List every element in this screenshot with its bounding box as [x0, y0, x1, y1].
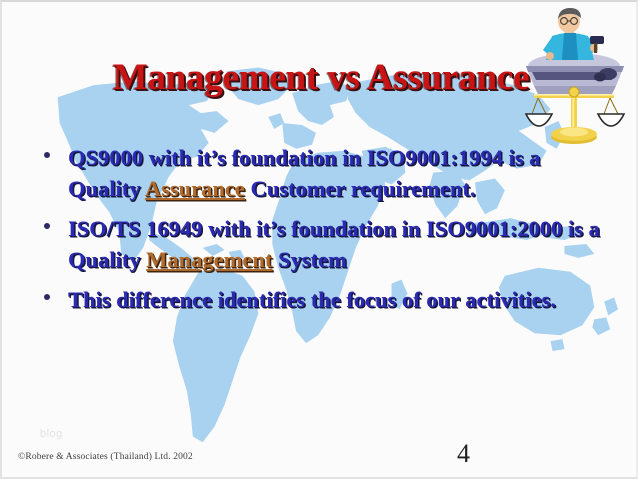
- list-item: ISO/TS 16949 with it’s foundation in ISO…: [38, 213, 618, 275]
- presentation-slide: Management vs Assurance: [0, 0, 638, 479]
- bullet-dot-icon: [44, 294, 50, 300]
- bullet-2-post: System: [272, 247, 346, 272]
- watermark-text: blog: [40, 428, 63, 440]
- bullet-1-highlight: Assurance: [145, 176, 245, 201]
- bullet-2-text: ISO/TS 16949 with it’s foundation in ISO…: [68, 216, 600, 272]
- bullet-1-text: QS9000 with it’s foundation in ISO9001:1…: [68, 145, 540, 201]
- page-number: 4: [457, 439, 470, 469]
- page-title: Management vs Assurance: [113, 56, 530, 100]
- bullet-3-text: This difference identifies the focus of …: [68, 287, 556, 312]
- bullet-2-highlight: Management: [146, 247, 272, 272]
- list-item: QS9000 with it’s foundation in ISO9001:1…: [38, 142, 618, 204]
- bullet-dot-icon: [44, 152, 50, 158]
- slide-title-container: Management vs Assurance: [2, 56, 638, 100]
- bullet-3-pre: This difference identifies the focus of …: [68, 287, 556, 312]
- list-item: This difference identifies the focus of …: [38, 284, 618, 315]
- copyright-notice: ©Robere & Associates (Thailand) Ltd. 200…: [18, 452, 193, 462]
- bullet-list: QS9000 with it’s foundation in ISO9001:1…: [38, 142, 618, 324]
- bullet-1-post: Customer requirement.: [245, 176, 476, 201]
- bullet-dot-icon: [44, 223, 50, 229]
